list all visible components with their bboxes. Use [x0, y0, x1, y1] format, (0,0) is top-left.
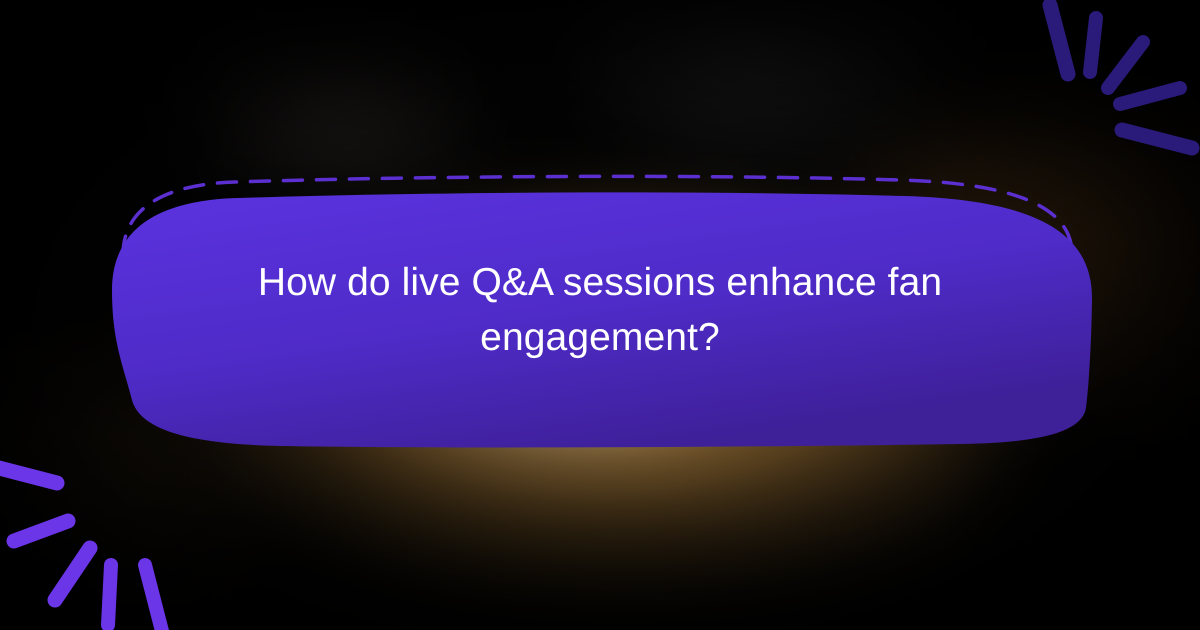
blob-layer — [0, 0, 1200, 630]
blob-shape — [112, 192, 1092, 447]
thumbnail-canvas: How do live Q&A sessions enhance fan eng… — [0, 0, 1200, 630]
